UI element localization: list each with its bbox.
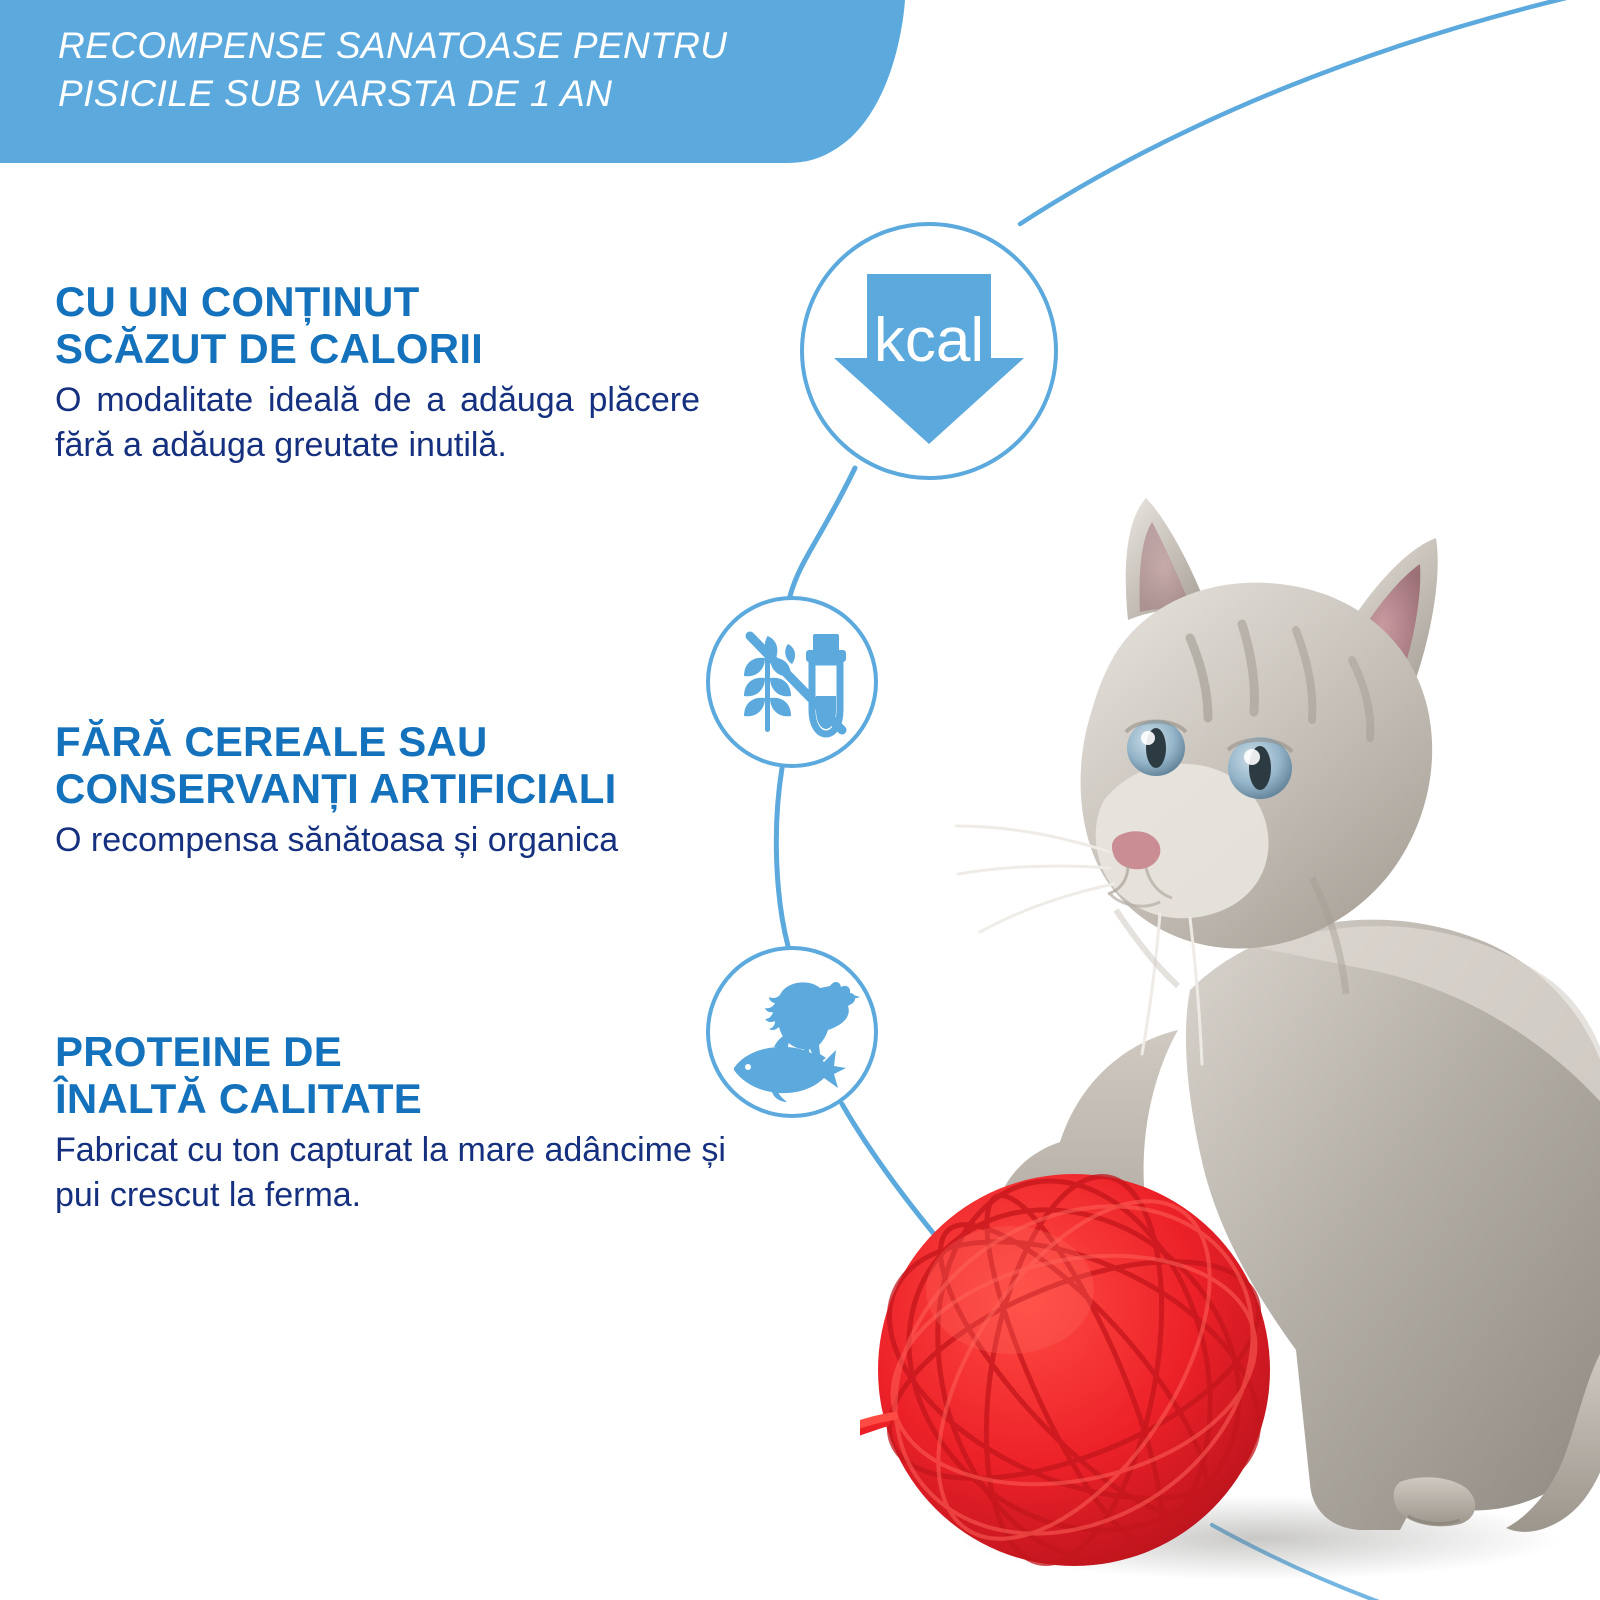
feature-2-heading-line-1: FĂRĂ CEREALE SAU — [55, 718, 715, 765]
kcal-badge: kcal — [800, 222, 1058, 480]
feature-3-heading-line-1: PROTEINE DE — [55, 1028, 735, 1075]
kitten-with-yarn-illustration — [860, 470, 1600, 1600]
feature-3-body: Fabricat cu ton capturat la mare adâncim… — [55, 1128, 735, 1218]
no-grain-badge — [706, 596, 878, 768]
banner-title: RECOMPENSE SANATOASE PENTRU PISICILE SUB… — [58, 22, 878, 118]
feature-block-low-calorie: CU UN CONȚINUT SCĂZUT DE CALORII O modal… — [55, 278, 700, 469]
kcal-label: kcal — [874, 306, 984, 375]
feature-3-heading-line-2: ÎNALTĂ CALITATE — [55, 1075, 735, 1122]
feature-1-heading-line-1: CU UN CONȚINUT — [55, 278, 700, 325]
banner-title-line-2: PISICILE SUB VARSTA DE 1 AN — [58, 70, 878, 118]
no-grain-no-additive-icon — [710, 600, 874, 764]
header-banner: RECOMPENSE SANATOASE PENTRU PISICILE SUB… — [0, 0, 960, 165]
feature-2-heading-line-2: CONSERVANȚI ARTIFICIALI — [55, 765, 715, 812]
feature-block-no-grain: FĂRĂ CEREALE SAU CONSERVANȚI ARTIFICIALI… — [55, 718, 715, 863]
rooster-and-fish-icon — [710, 950, 874, 1114]
feature-2-heading: FĂRĂ CEREALE SAU CONSERVANȚI ARTIFICIALI — [55, 718, 715, 812]
feature-1-heading: CU UN CONȚINUT SCĂZUT DE CALORII — [55, 278, 700, 372]
feature-1-body: O modalitate ideală de a adăuga plăcere … — [55, 378, 700, 468]
feature-3-heading: PROTEINE DE ÎNALTĂ CALITATE — [55, 1028, 735, 1122]
banner-title-line-1: RECOMPENSE SANATOASE PENTRU — [58, 22, 878, 70]
feature-block-high-protein: PROTEINE DE ÎNALTĂ CALITATE Fabricat cu … — [55, 1028, 735, 1219]
feature-1-heading-line-2: SCĂZUT DE CALORII — [55, 325, 700, 372]
protein-badge — [706, 946, 878, 1118]
feature-2-body: O recompensa sănătoasa și organica — [55, 818, 715, 863]
kcal-down-arrow-icon: kcal — [804, 226, 1054, 476]
kitten-photo — [860, 470, 1600, 1600]
infographic-canvas: RECOMPENSE SANATOASE PENTRU PISICILE SUB… — [0, 0, 1600, 1600]
